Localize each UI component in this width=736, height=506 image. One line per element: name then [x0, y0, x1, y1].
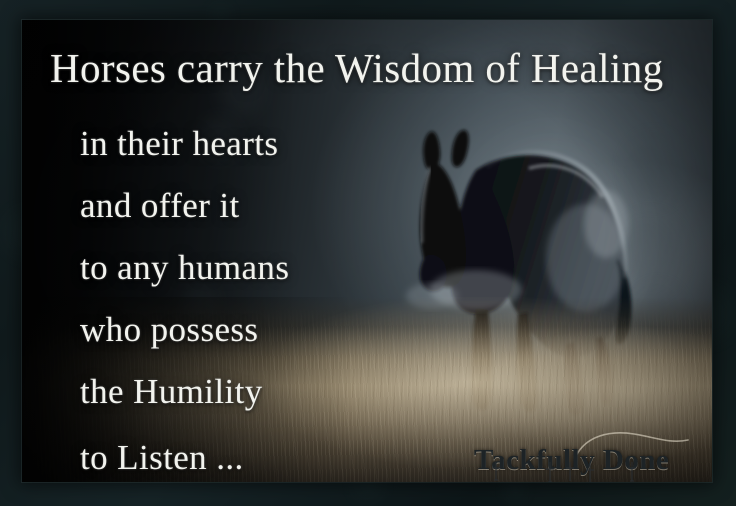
photo-canvas: Horses carry the Wisdom of Healing in th… — [22, 20, 712, 482]
fog-ghost-shape — [628, 138, 680, 202]
grass-highlight — [22, 297, 712, 482]
poster-image: Horses carry the Wisdom of Healing in th… — [0, 0, 736, 506]
fog-ghost-shape — [620, 216, 680, 290]
fog-ghost-shape — [218, 60, 264, 118]
fog-ghost-shape — [200, 116, 240, 160]
